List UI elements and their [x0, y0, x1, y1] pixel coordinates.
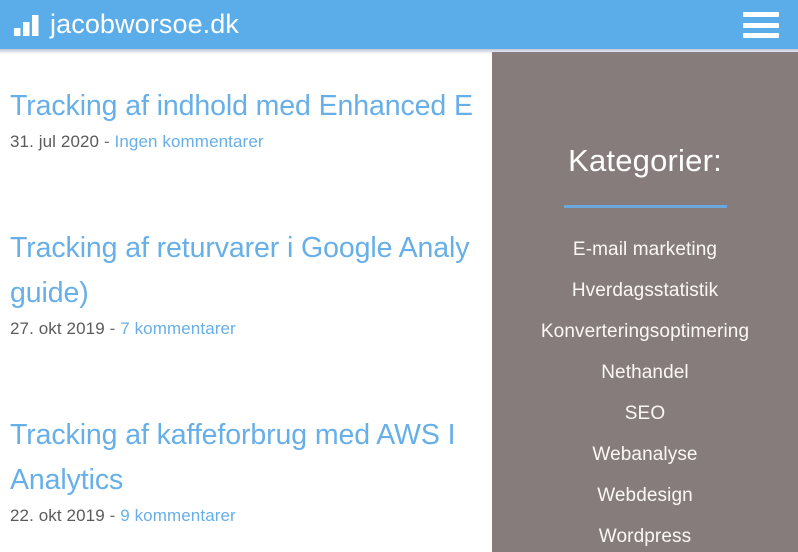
- sidebar-item-e-mail-marketing[interactable]: E-mail marketing: [492, 229, 798, 270]
- sidebar-item-webdesign[interactable]: Webdesign: [492, 475, 798, 516]
- site-header: jacobworsoe.dk: [0, 0, 798, 49]
- post-title-line-1: Tracking af returvarer i Google Analy: [10, 232, 469, 264]
- post-comments-link[interactable]: 7 kommentarer: [120, 319, 236, 338]
- sidebar-item-hverdagsstatistik[interactable]: Hverdagsstatistik: [492, 270, 798, 311]
- sidebar-item-webanalyse[interactable]: Webanalyse: [492, 434, 798, 475]
- meta-separator: -: [110, 319, 116, 338]
- post-title-line-2: guide): [10, 277, 89, 309]
- sidebar-item-konverteringsoptimering[interactable]: Konverteringsoptimering: [492, 311, 798, 352]
- brand[interactable]: jacobworsoe.dk: [14, 0, 239, 49]
- category-list: E-mail marketing Hverdagsstatistik Konve…: [492, 208, 798, 552]
- post-title-line-1: Tracking af kaffeforbrug med AWS I: [10, 419, 455, 451]
- post-title-line-2: Analytics: [10, 464, 123, 496]
- meta-separator: -: [110, 506, 116, 525]
- hamburger-bar-top: [743, 12, 779, 17]
- post-date: 27. okt 2019: [10, 319, 105, 338]
- post-comments-link[interactable]: 9 kommentarer: [120, 506, 236, 525]
- sidebar-item-seo[interactable]: SEO: [492, 393, 798, 434]
- post-comments-link[interactable]: Ingen kommentarer: [115, 132, 264, 151]
- hamburger-menu-icon[interactable]: [741, 9, 781, 41]
- hamburger-bar-bottom: [743, 33, 779, 38]
- sidebar-categories-panel: Kategorier: E-mail marketing Hverdagssta…: [492, 52, 798, 552]
- bar-chart-icon: [14, 15, 39, 36]
- sidebar-item-wordpress[interactable]: Wordpress: [492, 516, 798, 552]
- site-title: jacobworsoe.dk: [50, 11, 239, 38]
- meta-separator: -: [104, 132, 110, 151]
- post-date: 22. okt 2019: [10, 506, 105, 525]
- post-date: 31. jul 2020: [10, 132, 99, 151]
- sidebar-heading: Kategorier:: [492, 145, 798, 176]
- hamburger-bar-middle: [743, 23, 779, 28]
- sidebar-item-nethandel[interactable]: Nethandel: [492, 352, 798, 393]
